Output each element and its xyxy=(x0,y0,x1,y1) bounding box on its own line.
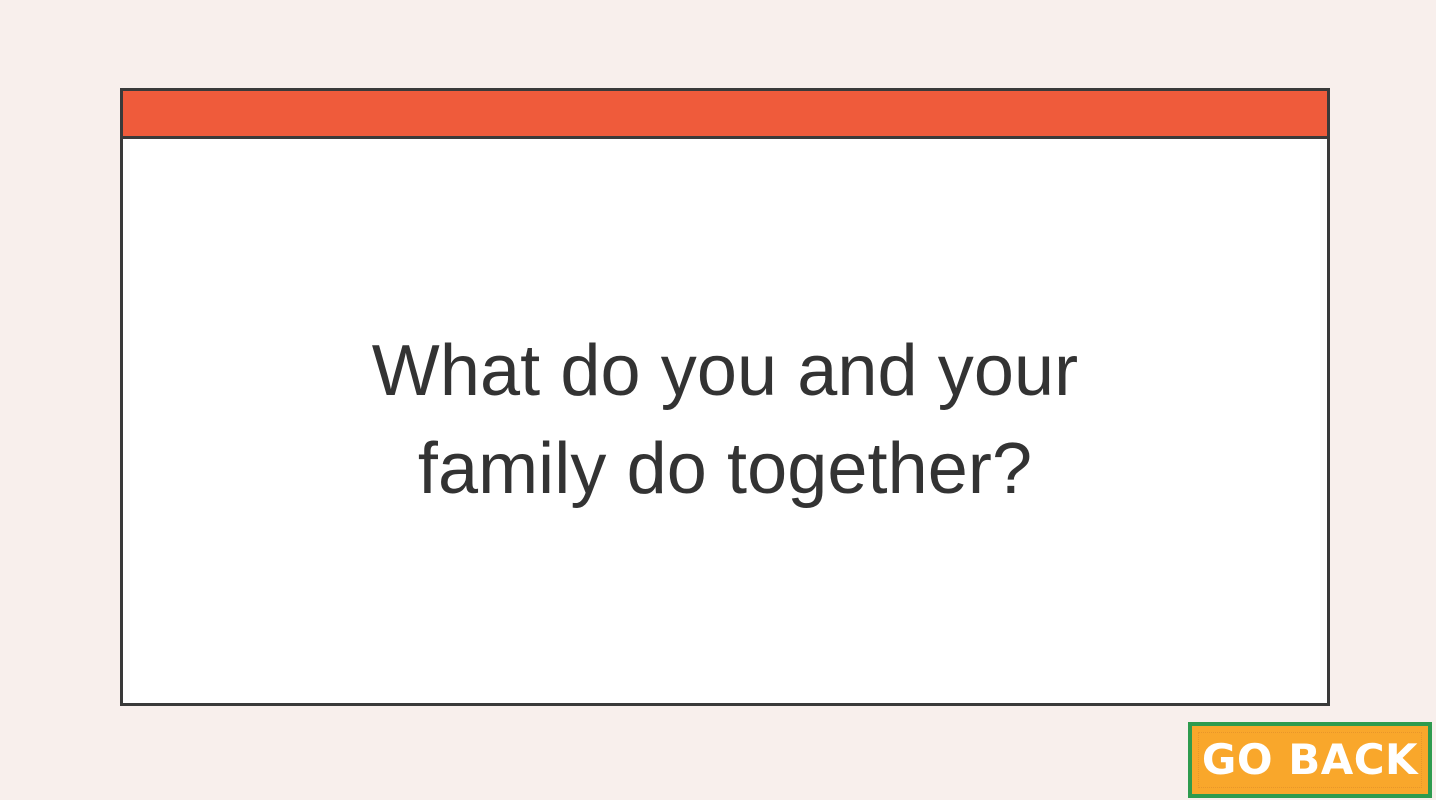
go-back-button-label: GO BACK xyxy=(1202,739,1418,781)
go-back-button[interactable]: GO BACK xyxy=(1188,722,1432,798)
slide-header-accent-bar xyxy=(123,91,1327,139)
slide-body: What do you and your family do together? xyxy=(123,139,1327,703)
question-slide-card: What do you and your family do together? xyxy=(120,88,1330,706)
question-text: What do you and your family do together? xyxy=(330,323,1120,519)
